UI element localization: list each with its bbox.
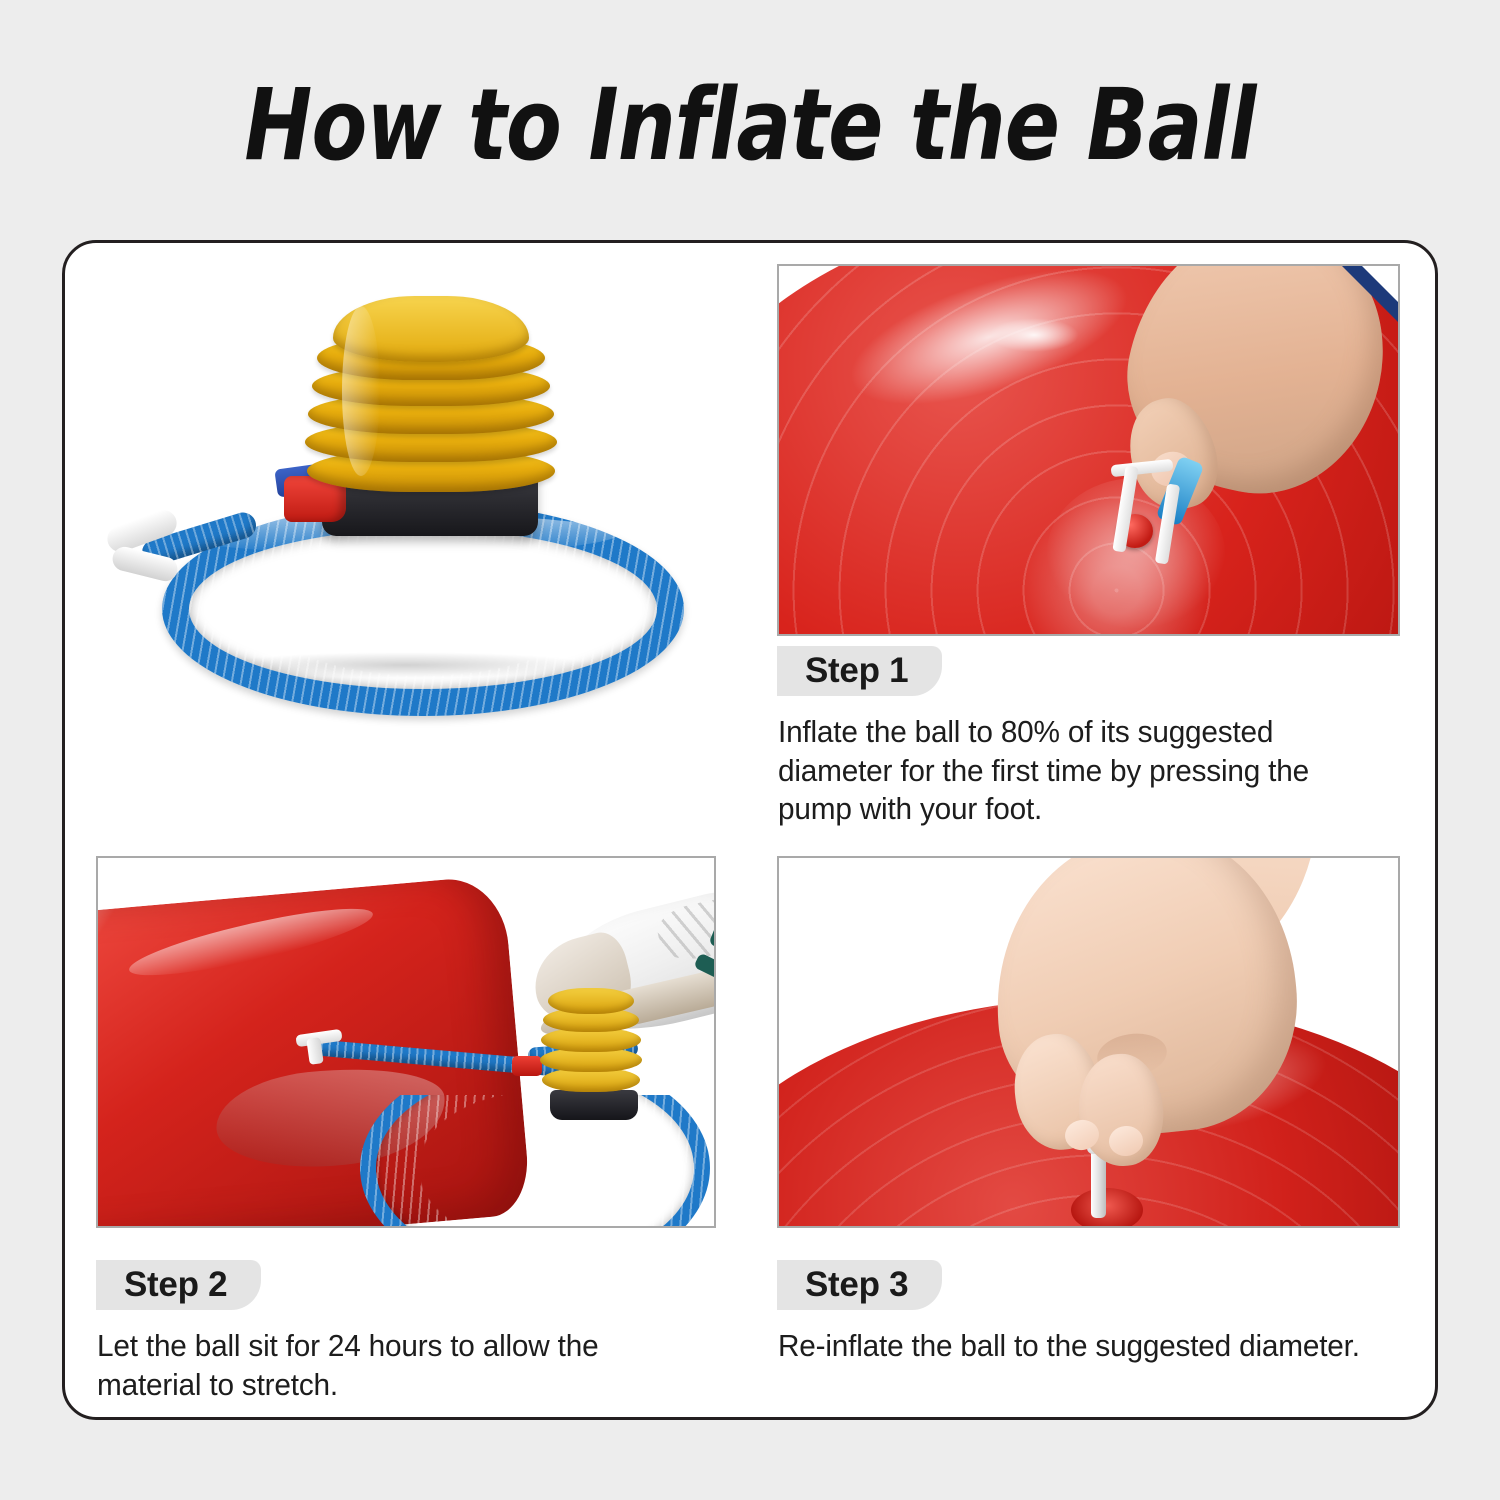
bellows-top bbox=[333, 296, 529, 362]
foot-pump-icon bbox=[96, 280, 716, 780]
bellows-top bbox=[548, 988, 634, 1014]
pump-illustration bbox=[96, 280, 716, 780]
step-1-scene bbox=[779, 266, 1398, 634]
pump-bellows bbox=[302, 296, 560, 492]
step-1-photo bbox=[777, 264, 1400, 636]
step-2-photo bbox=[96, 856, 716, 1228]
foot-pump-icon bbox=[528, 988, 654, 1114]
step-3-label: Step 3 bbox=[805, 1265, 908, 1305]
ball-highlight bbox=[989, 318, 1079, 352]
step-2-badge: Step 2 bbox=[96, 1260, 261, 1310]
step-1-badge: Step 1 bbox=[777, 646, 942, 696]
step-1-label: Step 1 bbox=[805, 651, 908, 691]
page-title: How to Inflate the Ball bbox=[135, 70, 1365, 182]
step-1-text: Inflate the ball to 80% of its suggested… bbox=[778, 713, 1373, 829]
step-2-scene bbox=[98, 858, 714, 1226]
ball-valve-seat bbox=[1071, 1188, 1143, 1226]
infographic-page: How to Inflate the Ball bbox=[0, 0, 1500, 1500]
step-3-scene bbox=[779, 858, 1398, 1226]
step-3-photo bbox=[777, 856, 1400, 1228]
step-2-label: Step 2 bbox=[124, 1265, 227, 1305]
step-2-text: Let the ball sit for 24 hours to allow t… bbox=[97, 1327, 659, 1404]
step-3-badge: Step 3 bbox=[777, 1260, 942, 1310]
background-corner-inner bbox=[1362, 266, 1398, 302]
step-3-text: Re-inflate the ball to the suggested dia… bbox=[778, 1327, 1397, 1366]
